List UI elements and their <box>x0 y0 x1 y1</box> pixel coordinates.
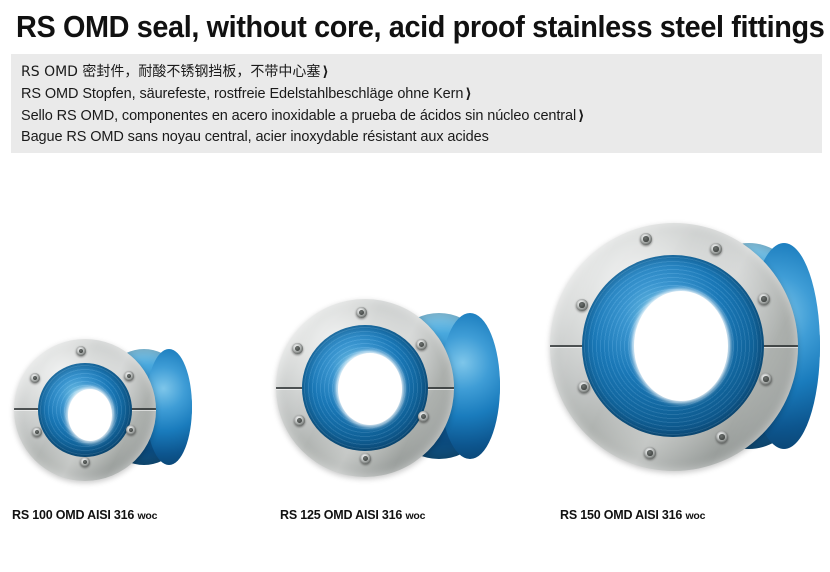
flange-bolt <box>76 346 86 356</box>
flange-bolt <box>576 299 588 311</box>
flange-bolt <box>294 415 305 426</box>
caption-suffix: woc <box>137 510 157 522</box>
seal-bore-opening <box>338 353 402 425</box>
product-image-rs-125-omd <box>272 287 510 487</box>
product-caption-rs-150-omd: RS 150 OMD AISI 316 woc <box>560 508 705 522</box>
caption-model: RS 125 OMD AISI 316 <box>280 508 402 522</box>
translation-text-es: Sello RS OMD, componentes en acero inoxi… <box>21 108 576 124</box>
translations-band: RS OMD 密封件，耐酸不锈钢挡板，不带中心塞⟩ RS OMD Stopfen… <box>11 54 822 153</box>
flange-bolt <box>418 411 429 422</box>
seal-assembly <box>8 327 204 487</box>
chevron-right-icon: ⟩ <box>576 107 584 123</box>
flange-bolt <box>758 293 770 305</box>
flange-bolt <box>124 371 134 381</box>
seal-assembly <box>272 287 510 487</box>
flange-bolt <box>32 427 42 437</box>
flange-bolt <box>644 447 656 459</box>
flange-bolt <box>360 453 371 464</box>
flange-bolt <box>710 243 722 255</box>
seal-assembly <box>548 215 830 487</box>
flange-bolt <box>126 425 136 435</box>
page-title: RS OMD seal, without core, acid proof st… <box>16 8 760 46</box>
flange-bolt <box>640 233 652 245</box>
flange-bolt <box>716 431 728 443</box>
product-caption-rs-100-omd: RS 100 OMD AISI 316 woc <box>12 508 157 522</box>
translation-line-fr: Bague RS OMD sans noyau central, acier i… <box>21 127 822 148</box>
product-caption-rs-125-omd: RS 125 OMD AISI 316 woc <box>280 508 425 522</box>
product-image-rs-100-omd <box>8 327 204 487</box>
product-gallery <box>0 175 830 505</box>
caption-model: RS 100 OMD AISI 316 <box>12 508 134 522</box>
chevron-right-icon: ⟩ <box>463 85 471 101</box>
translation-text-zh: RS OMD 密封件，耐酸不锈钢挡板，不带中心塞 <box>21 64 320 80</box>
flange-bolt <box>416 339 427 350</box>
flange-bolt <box>30 373 40 383</box>
flange-bolt <box>760 373 772 385</box>
seal-bore-opening <box>634 291 728 401</box>
flange-bolt <box>356 307 367 318</box>
translation-text-fr: Bague RS OMD sans noyau central, acier i… <box>21 129 489 145</box>
translation-line-de: RS OMD Stopfen, säurefeste, rostfreie Ed… <box>21 83 822 105</box>
seal-bore-opening <box>68 389 112 441</box>
caption-model: RS 150 OMD AISI 316 <box>560 508 682 522</box>
caption-suffix: woc <box>685 510 705 522</box>
chevron-right-icon: ⟩ <box>320 64 328 80</box>
flange-bolt <box>578 381 590 393</box>
product-image-rs-150-omd <box>548 215 830 487</box>
caption-suffix: woc <box>405 510 425 522</box>
translation-line-zh: RS OMD 密封件，耐酸不锈钢挡板，不带中心塞⟩ <box>21 62 822 83</box>
translation-text-de: RS OMD Stopfen, säurefeste, rostfreie Ed… <box>21 86 463 102</box>
translation-line-es: Sello RS OMD, componentes en acero inoxi… <box>21 105 822 127</box>
flange-bolt <box>80 457 90 467</box>
flange-bolt <box>292 343 303 354</box>
